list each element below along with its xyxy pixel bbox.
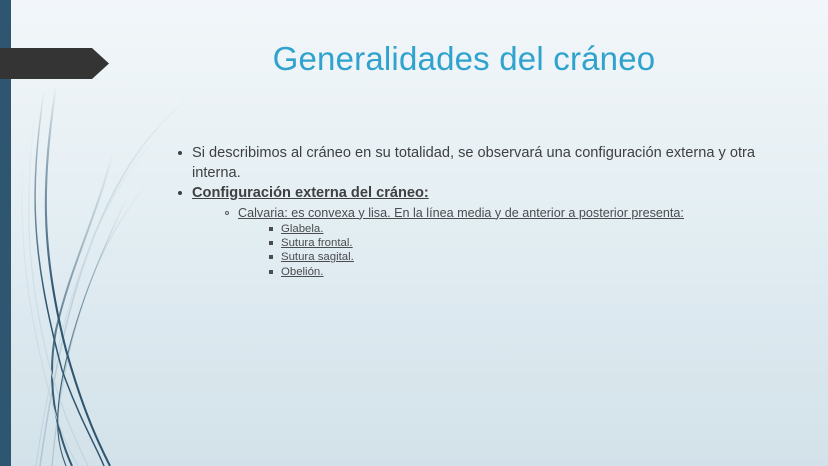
bullet-list-level-2: Calvaria: es convexa y lisa. En la línea…	[192, 205, 776, 280]
bullet-list-level-1: Si describimos al cráneo en su totalidad…	[176, 144, 776, 279]
presentation-slide: Generalidades del cráneo Si describimos …	[0, 0, 828, 466]
bullet-marker-disc	[178, 191, 182, 195]
bullet-text: Si describimos al cráneo en su totalidad…	[192, 145, 755, 181]
bullet-marker-square	[269, 255, 273, 259]
bullet-marker-square	[269, 227, 273, 231]
bullet-text: Obelión.	[281, 266, 323, 278]
bullet-marker-square	[269, 270, 273, 274]
bullet-marker-square	[269, 241, 273, 245]
bullet-text: Glabela.	[281, 223, 323, 235]
bullet-text-emphasized: Configuración externa del cráneo:	[192, 185, 429, 201]
bullet-list-level-3: Glabela. Sutura frontal. Sutura sagital.	[238, 222, 776, 280]
slide-body: Si describimos al cráneo en su totalidad…	[176, 144, 776, 280]
bullet-item: Obelión.	[268, 265, 776, 279]
bullet-text: Calvaria: es convexa y lisa. En la línea…	[238, 206, 684, 220]
bullet-item: Sutura sagital.	[268, 250, 776, 264]
bullet-item: Sutura frontal.	[268, 236, 776, 250]
slide-title: Generalidades del cráneo	[124, 40, 804, 78]
bullet-text: Sutura sagital.	[281, 251, 354, 263]
bullet-marker-circle	[225, 211, 229, 215]
chevron-banner-icon	[0, 48, 109, 79]
bullet-text: Sutura frontal.	[281, 237, 353, 249]
bullet-item: Glabela.	[268, 222, 776, 236]
bullet-marker-disc	[178, 151, 182, 155]
bullet-item: Si describimos al cráneo en su totalidad…	[176, 144, 776, 183]
bullet-item: Configuración externa del cráneo: Calvar…	[176, 184, 776, 279]
bullet-item: Calvaria: es convexa y lisa. En la línea…	[224, 205, 776, 280]
